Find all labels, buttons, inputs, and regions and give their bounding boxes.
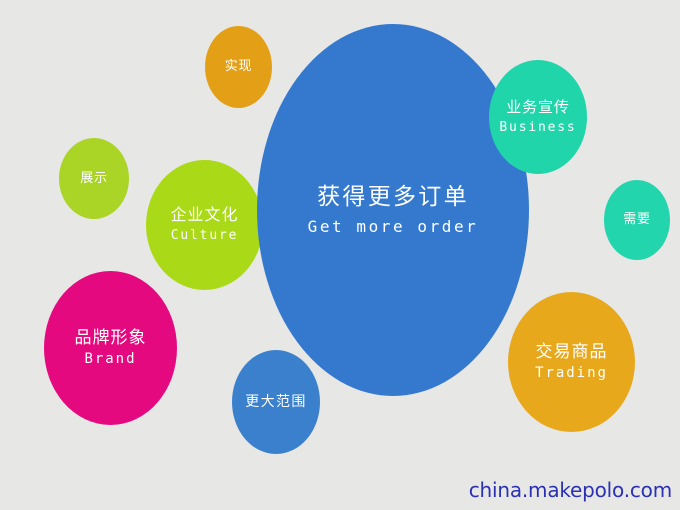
- bubble-display-label-cn: 展示: [80, 171, 108, 186]
- bubble-brand-label-cn: 品牌形象: [74, 328, 146, 348]
- bubble-need[interactable]: 需要: [604, 180, 670, 260]
- bubble-display[interactable]: 展示: [59, 138, 129, 219]
- bubble-business-label-en: Business: [499, 120, 576, 135]
- bubble-core-label-cn: 获得更多订单: [317, 184, 469, 211]
- bubble-trading-label-en: Trading: [535, 365, 608, 382]
- bubble-culture-label-cn: 企业文化: [171, 206, 239, 225]
- bubble-trading-label-cn: 交易商品: [535, 342, 607, 362]
- bubble-business-label-cn: 业务宣传: [506, 99, 570, 117]
- bubble-business[interactable]: 业务宣传 Business: [489, 60, 587, 174]
- bubble-need-label-cn: 需要: [623, 212, 651, 227]
- bubble-diagram-canvas: 实现 展示 需要 企业文化 Culture 获得更多订单 Get more or…: [0, 0, 680, 510]
- bubble-core-label-en: Get more order: [308, 218, 479, 237]
- bubble-realize-label-cn: 实现: [225, 59, 253, 74]
- bubble-brand[interactable]: 品牌形象 Brand: [44, 271, 177, 425]
- bubble-realize[interactable]: 实现: [205, 26, 272, 108]
- bubble-scope[interactable]: 更大范围: [232, 350, 320, 454]
- bubble-core-goal[interactable]: 获得更多订单 Get more order: [257, 24, 529, 396]
- bubble-culture[interactable]: 企业文化 Culture: [146, 160, 263, 290]
- bubble-culture-label-en: Culture: [171, 228, 239, 243]
- bubble-brand-label-en: Brand: [85, 351, 137, 368]
- watermark: china.makepolo.com: [469, 478, 672, 502]
- bubble-trading[interactable]: 交易商品 Trading: [508, 292, 635, 432]
- bubble-scope-label-cn: 更大范围: [245, 394, 307, 411]
